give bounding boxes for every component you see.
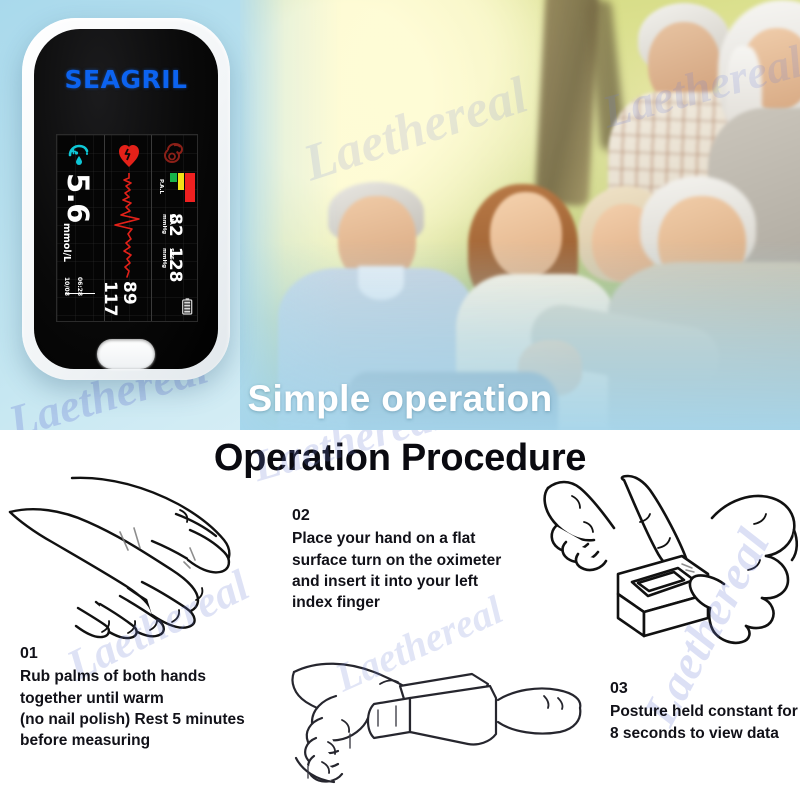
dia-unit: mmHg bbox=[161, 214, 167, 234]
hero-caption: Simple operation bbox=[0, 378, 800, 420]
operation-procedure-section: Operation Procedure bbox=[0, 430, 800, 800]
step-01-line-3: (no nail polish) Rest 5 minutes bbox=[20, 711, 245, 728]
oximeter-device: SEAGRIL 5.6 mmol/L 06:28 bbox=[22, 18, 230, 380]
device-screen: 5.6 mmol/L 06:28 10/08 89 bbox=[56, 134, 198, 322]
step-01-line-2: together until warm bbox=[20, 690, 164, 707]
step-02-line-3: and insert it into your left bbox=[292, 573, 478, 590]
seniors-photo bbox=[240, 0, 800, 430]
photo-blur-layer bbox=[240, 0, 800, 430]
step-02-line-1: Place your hand on a flat bbox=[292, 530, 475, 547]
person-laughing-woman-head bbox=[490, 192, 562, 278]
pal-bar-chart bbox=[170, 173, 194, 207]
person-front-man-collar bbox=[358, 266, 404, 300]
step-03-number: 03 bbox=[610, 678, 800, 699]
battery-icon bbox=[182, 298, 193, 315]
glucose-unit: mmol/L bbox=[61, 223, 72, 262]
pal-bar-green bbox=[170, 173, 177, 182]
screen-column-glucose: 5.6 mmol/L 06:28 10/08 bbox=[57, 135, 104, 321]
person-back-man-body bbox=[608, 92, 758, 272]
person-back-woman-hair-front bbox=[726, 46, 762, 150]
person-back-woman-body bbox=[708, 108, 800, 283]
step-01-line-4: before measuring bbox=[20, 732, 150, 749]
step-03: 03 Posture held constant for 8 seconds t… bbox=[610, 678, 800, 744]
pal-bar-red bbox=[185, 173, 195, 202]
person-back-woman-hair bbox=[718, 0, 800, 140]
person-front-man-head bbox=[338, 196, 416, 284]
screen-column-pulse: 89 117 bbox=[104, 135, 151, 321]
sys-unit: mmHg bbox=[161, 248, 167, 268]
person-foreground-man-head bbox=[658, 196, 746, 290]
tree-trunk bbox=[534, 0, 599, 206]
step-02-number: 02 bbox=[292, 505, 548, 526]
step-01-line-1: Rub palms of both hands bbox=[20, 668, 206, 685]
screen-column-blood-pressure: P.A.L 82 DIA mmHg 128 SYS mmHg bbox=[151, 135, 197, 321]
pal-bar-yellow bbox=[178, 173, 184, 190]
person-back-man-hair bbox=[638, 3, 730, 75]
person-blonde-woman-hair bbox=[578, 186, 674, 282]
hand-holding-steady-illustration bbox=[282, 638, 582, 800]
hero-banner: Laethereal Laethereal Laethereal SEAGRIL bbox=[0, 0, 800, 430]
tree-branch bbox=[585, 0, 627, 151]
two-hands-rubbing-illustration bbox=[0, 470, 280, 660]
glucose-date: 10/08 bbox=[63, 277, 70, 296]
blood-drop-icon bbox=[66, 143, 96, 167]
step-02-line-4: index finger bbox=[292, 594, 380, 611]
person-back-woman-head bbox=[742, 28, 800, 110]
pal-label: P.A.L bbox=[158, 179, 164, 194]
glucose-value: 5.6 bbox=[61, 173, 95, 223]
spo2-value: 89 bbox=[119, 281, 139, 305]
device-front-face: SEAGRIL 5.6 mmol/L 06:28 bbox=[34, 29, 218, 369]
ecg-waveform bbox=[109, 173, 149, 281]
person-foreground-man-hair bbox=[640, 176, 756, 274]
sys-label: SYS bbox=[168, 248, 174, 260]
person-front-man-hair bbox=[328, 182, 424, 242]
person-back-man-head bbox=[648, 22, 720, 106]
step-02: 02 Place your hand on a flat surface tur… bbox=[292, 505, 548, 614]
heart-icon bbox=[117, 141, 141, 169]
dia-label: DIA bbox=[168, 214, 174, 225]
device-brand-logo: SEAGRIL bbox=[34, 65, 218, 94]
power-button[interactable] bbox=[97, 339, 155, 369]
blood-pressure-cuff-icon bbox=[162, 141, 190, 167]
person-blonde-woman-head bbox=[592, 204, 658, 282]
step-01-number: 01 bbox=[20, 643, 296, 664]
step-02-line-2: surface turn on the oximeter bbox=[292, 552, 501, 569]
step-03-line-1: Posture held constant for bbox=[610, 703, 798, 720]
person-laughing-woman-hair bbox=[468, 184, 578, 312]
glucose-time: 06:28 bbox=[76, 277, 83, 296]
bpm-value: 117 bbox=[100, 281, 120, 317]
step-03-line-2: 8 seconds to view data bbox=[610, 725, 779, 742]
step-01: 01 Rub palms of both hands together unti… bbox=[20, 643, 296, 752]
finger-inserting-oximeter-illustration bbox=[532, 470, 800, 660]
